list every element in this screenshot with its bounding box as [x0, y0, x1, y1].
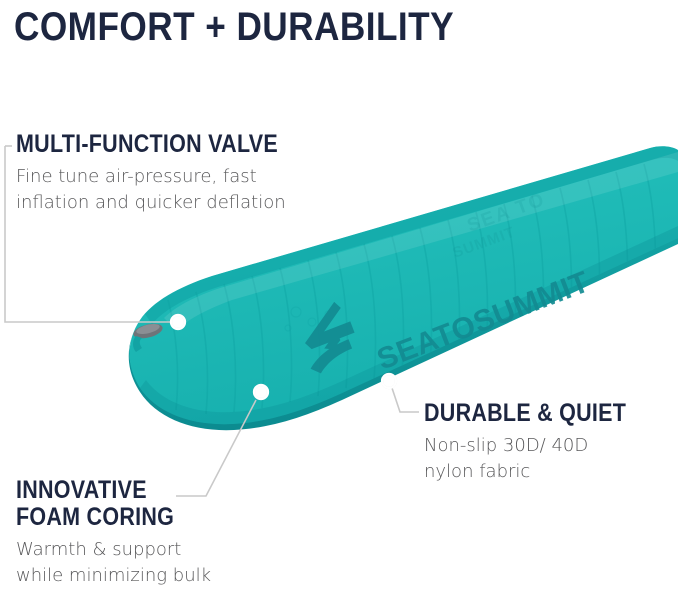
callout-heading-foam-line1: INNOVATIVE: [16, 477, 184, 504]
callout-durable-quiet: DURABLE & QUIET Non-slip 30D/ 40D nylon …: [424, 400, 659, 485]
callout-heading-valve: MULTI-FUNCTION VALVE: [16, 131, 278, 158]
callout-body-valve: Fine tune air-pressure, fast inflation a…: [16, 164, 321, 216]
callout-heading-foam-line2: FOAM CORING: [16, 504, 184, 531]
page-title: COMFORT + DURABILITY: [14, 4, 454, 50]
callout-multi-function-valve: MULTI-FUNCTION VALVE Fine tune air-press…: [16, 131, 321, 216]
product-infographic: SEA TO SUMMIT SEATOSUMMIT: [0, 0, 679, 616]
callout-innovative-foam-coring: INNOVATIVE FOAM CORING Warmth & support …: [16, 477, 211, 589]
callout-body-foam: Warmth & support while minimizing bulk: [16, 537, 211, 589]
callout-heading-durable: DURABLE & QUIET: [424, 400, 626, 427]
callout-body-durable: Non-slip 30D/ 40D nylon fabric: [424, 433, 659, 485]
